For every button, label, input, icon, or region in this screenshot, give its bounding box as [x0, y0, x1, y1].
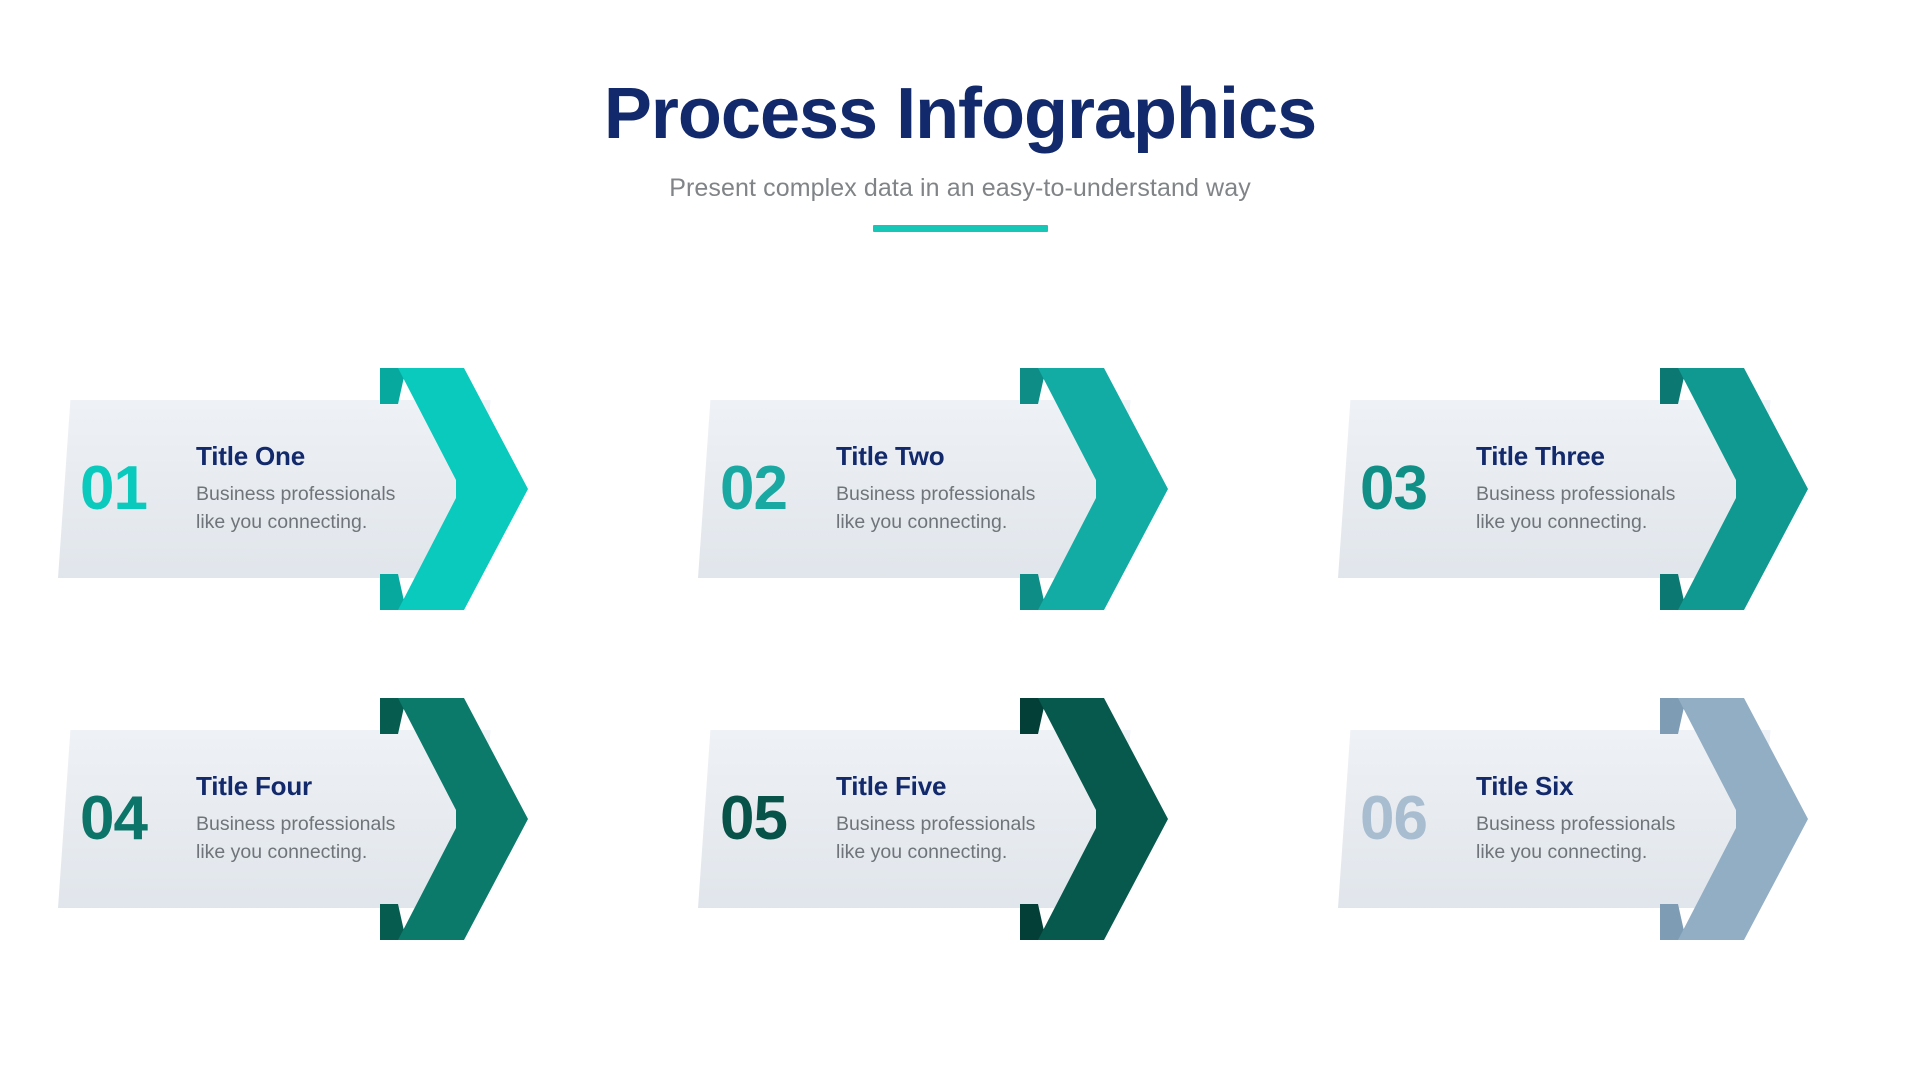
- process-cards-grid: 01Title OneBusiness professionalslike yo…: [0, 360, 1920, 1020]
- card-description-line-1: Business professionals: [1476, 481, 1675, 509]
- card-step-number: 03: [1360, 458, 1472, 520]
- card-title: Title Six: [1476, 771, 1675, 802]
- card-content: 04Title FourBusiness professionalslike y…: [58, 730, 478, 908]
- card-step-number: 05: [720, 788, 832, 850]
- card-description-line-2: like you connecting.: [1476, 509, 1675, 537]
- card-text-block: Title OneBusiness professionalslike you …: [192, 441, 395, 537]
- card-description-line-1: Business professionals: [1476, 811, 1675, 839]
- process-card[interactable]: 06Title SixBusiness professionalslike yo…: [1320, 690, 1880, 940]
- card-text-block: Title ThreeBusiness professionalslike yo…: [1472, 441, 1675, 537]
- card-description-line-1: Business professionals: [196, 811, 395, 839]
- card-title: Title One: [196, 441, 395, 472]
- card-title: Title Two: [836, 441, 1035, 472]
- card-text-block: Title FiveBusiness professionalslike you…: [832, 771, 1035, 867]
- infographic-page: Process Infographics Present complex dat…: [0, 0, 1920, 1080]
- page-title: Process Infographics: [0, 78, 1920, 150]
- card-title: Title Four: [196, 771, 395, 802]
- card-content: 06Title SixBusiness professionalslike yo…: [1338, 730, 1758, 908]
- card-description-line-2: like you connecting.: [196, 839, 395, 867]
- card-title: Title Five: [836, 771, 1035, 802]
- process-card[interactable]: 04Title FourBusiness professionalslike y…: [40, 690, 600, 940]
- card-description-line-1: Business professionals: [836, 811, 1035, 839]
- card-text-block: Title FourBusiness professionalslike you…: [192, 771, 395, 867]
- card-description-line-2: like you connecting.: [836, 509, 1035, 537]
- process-card[interactable]: 01Title OneBusiness professionalslike yo…: [40, 360, 600, 610]
- card-step-number: 02: [720, 458, 832, 520]
- page-subtitle: Present complex data in an easy-to-under…: [0, 174, 1920, 203]
- card-description-line-1: Business professionals: [196, 481, 395, 509]
- card-content: 01Title OneBusiness professionalslike yo…: [58, 400, 478, 578]
- card-step-number: 01: [80, 458, 192, 520]
- card-step-number: 06: [1360, 788, 1472, 850]
- card-description: Business professionalslike you connectin…: [1476, 811, 1675, 866]
- process-card[interactable]: 05Title FiveBusiness professionalslike y…: [680, 690, 1240, 940]
- header: Process Infographics Present complex dat…: [0, 0, 1920, 232]
- card-description-line-1: Business professionals: [836, 481, 1035, 509]
- card-text-block: Title TwoBusiness professionalslike you …: [832, 441, 1035, 537]
- card-step-number: 04: [80, 788, 192, 850]
- card-content: 05Title FiveBusiness professionalslike y…: [698, 730, 1118, 908]
- card-content: 03Title ThreeBusiness professionalslike …: [1338, 400, 1758, 578]
- card-description: Business professionalslike you connectin…: [196, 811, 395, 866]
- process-card[interactable]: 03Title ThreeBusiness professionalslike …: [1320, 360, 1880, 610]
- card-text-block: Title SixBusiness professionalslike you …: [1472, 771, 1675, 867]
- title-divider: [873, 225, 1048, 232]
- card-title: Title Three: [1476, 441, 1675, 472]
- card-description: Business professionalslike you connectin…: [1476, 481, 1675, 536]
- card-description-line-2: like you connecting.: [1476, 839, 1675, 867]
- card-description-line-2: like you connecting.: [196, 509, 395, 537]
- card-description: Business professionalslike you connectin…: [836, 481, 1035, 536]
- card-content: 02Title TwoBusiness professionalslike yo…: [698, 400, 1118, 578]
- card-description: Business professionalslike you connectin…: [196, 481, 395, 536]
- card-description-line-2: like you connecting.: [836, 839, 1035, 867]
- process-card[interactable]: 02Title TwoBusiness professionalslike yo…: [680, 360, 1240, 610]
- card-description: Business professionalslike you connectin…: [836, 811, 1035, 866]
